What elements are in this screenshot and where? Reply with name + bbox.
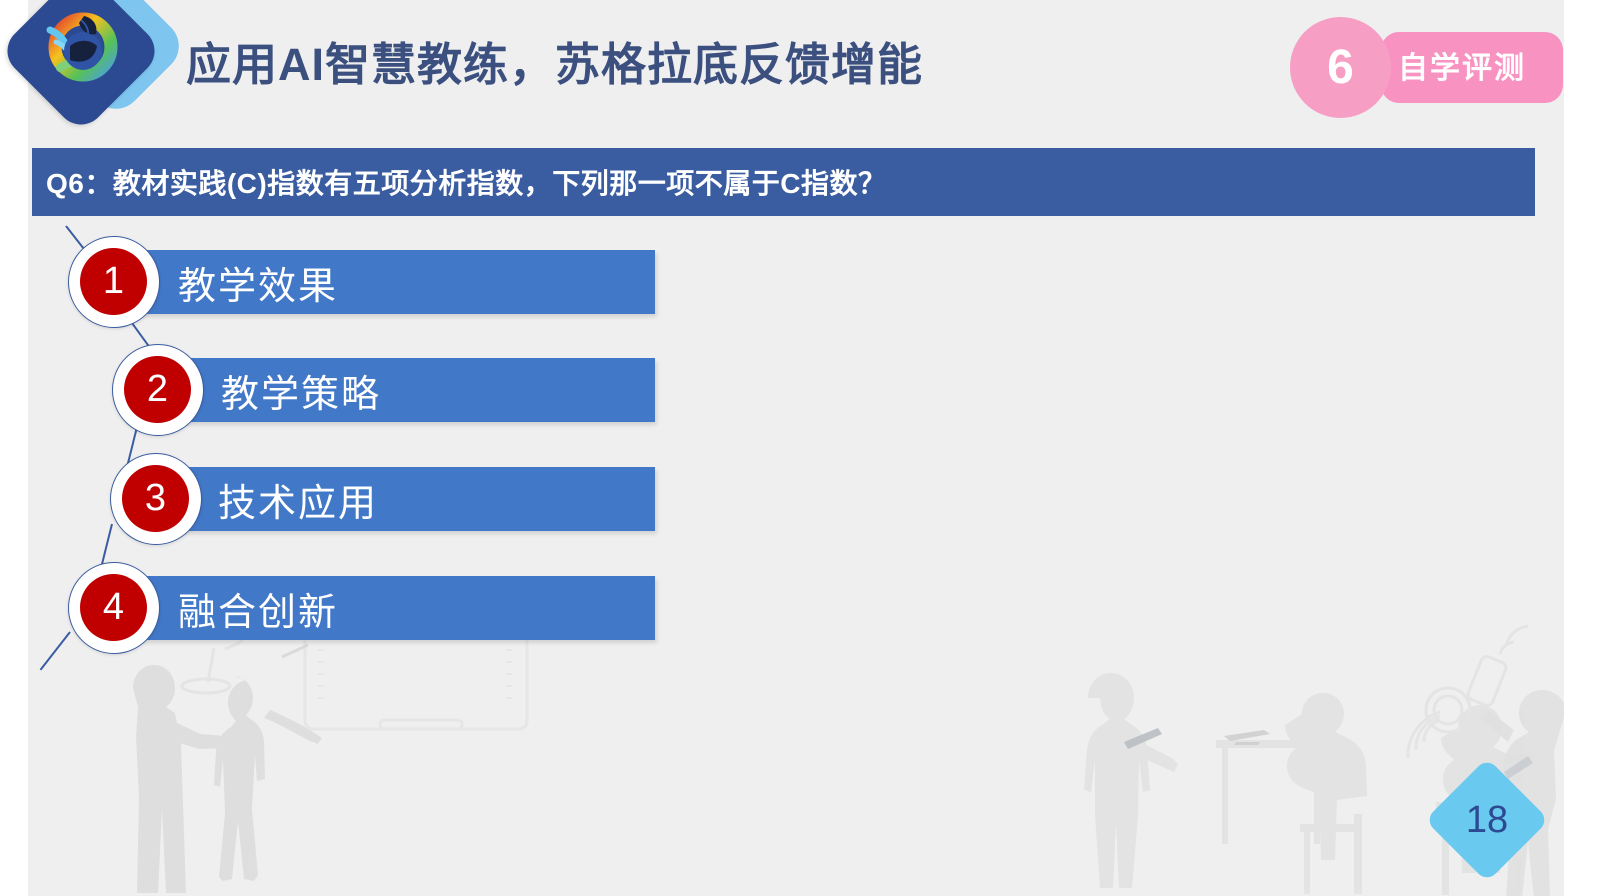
option-bar-1[interactable]: 教学效果 [140,250,655,314]
question-bar: Q6：教材实践(C)指数有五项分析指数，下列那一项不属于C指数？ [32,148,1535,216]
slide: 应用AI智慧教练，苏格拉底反馈增能 6 自学评测 Q6：教材实践(C)指数有五项… [0,0,1600,896]
page-number: 18 [1443,776,1531,864]
question-text: Q6：教材实践(C)指数有五项分析指数，下列那一项不属于C指数？ [32,162,886,202]
page-title: 应用AI智慧教练，苏格拉底反馈增能 [186,28,923,93]
option-number-1: 1 [80,248,147,315]
option-label-2: 教学策略 [221,363,381,418]
option-circle-4[interactable]: 4 [68,562,160,654]
logo-emblem-icon [40,6,126,92]
badge-number: 6 [1290,17,1391,118]
option-bar-3[interactable]: 技术应用 [180,467,655,531]
option-circle-3[interactable]: 3 [110,453,202,545]
option-bar-4[interactable]: 融合创新 [140,576,655,640]
option-label-3: 技术应用 [218,472,378,527]
option-number-4: 4 [80,574,147,641]
option-circle-1[interactable]: 1 [68,236,160,328]
option-label-1: 教学效果 [178,255,338,310]
option-label-4: 融合创新 [178,581,338,636]
option-bar-2[interactable]: 教学策略 [183,358,655,422]
brand-logo-icon [6,0,178,154]
badge-label: 自学评测 [1398,43,1558,87]
option-number-2: 2 [124,356,191,423]
slide-canvas [28,0,1564,896]
option-circle-2[interactable]: 2 [112,344,204,436]
option-number-3: 3 [122,465,189,532]
